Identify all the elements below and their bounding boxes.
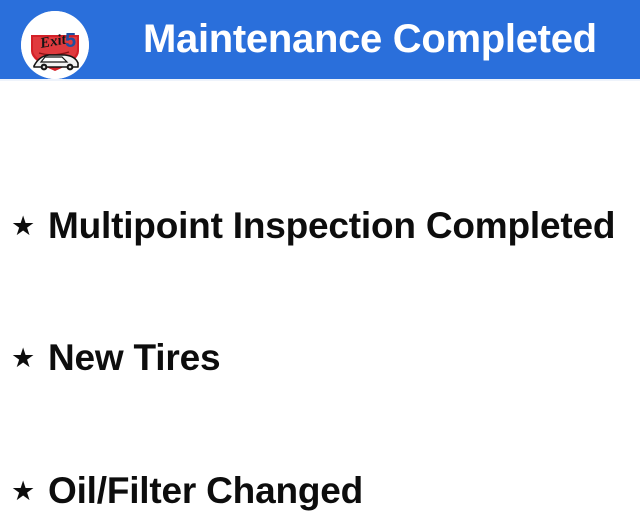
list-item-label: Multipoint Inspection Completed	[48, 207, 615, 246]
page-title: Maintenance Completed	[143, 0, 597, 79]
list-item-label: New Tires	[48, 339, 220, 378]
maintenance-completed-screen: Exit 5 Maintenance Completed ★ Multipoin…	[0, 0, 640, 480]
list-item: ★ New Tires	[11, 339, 220, 378]
star-icon: ★	[11, 213, 37, 240]
list-item: ★ Oil/Filter Changed	[11, 472, 363, 511]
star-icon: ★	[11, 345, 37, 372]
exit-5-logo: Exit 5	[21, 11, 89, 79]
list-item: ★ Multipoint Inspection Completed	[11, 207, 615, 246]
svg-text:5: 5	[65, 30, 76, 52]
list-item-label: Oil/Filter Changed	[48, 472, 363, 511]
maintenance-item-list: ★ Multipoint Inspection Completed ★ New …	[0, 79, 640, 480]
star-icon: ★	[11, 478, 37, 505]
